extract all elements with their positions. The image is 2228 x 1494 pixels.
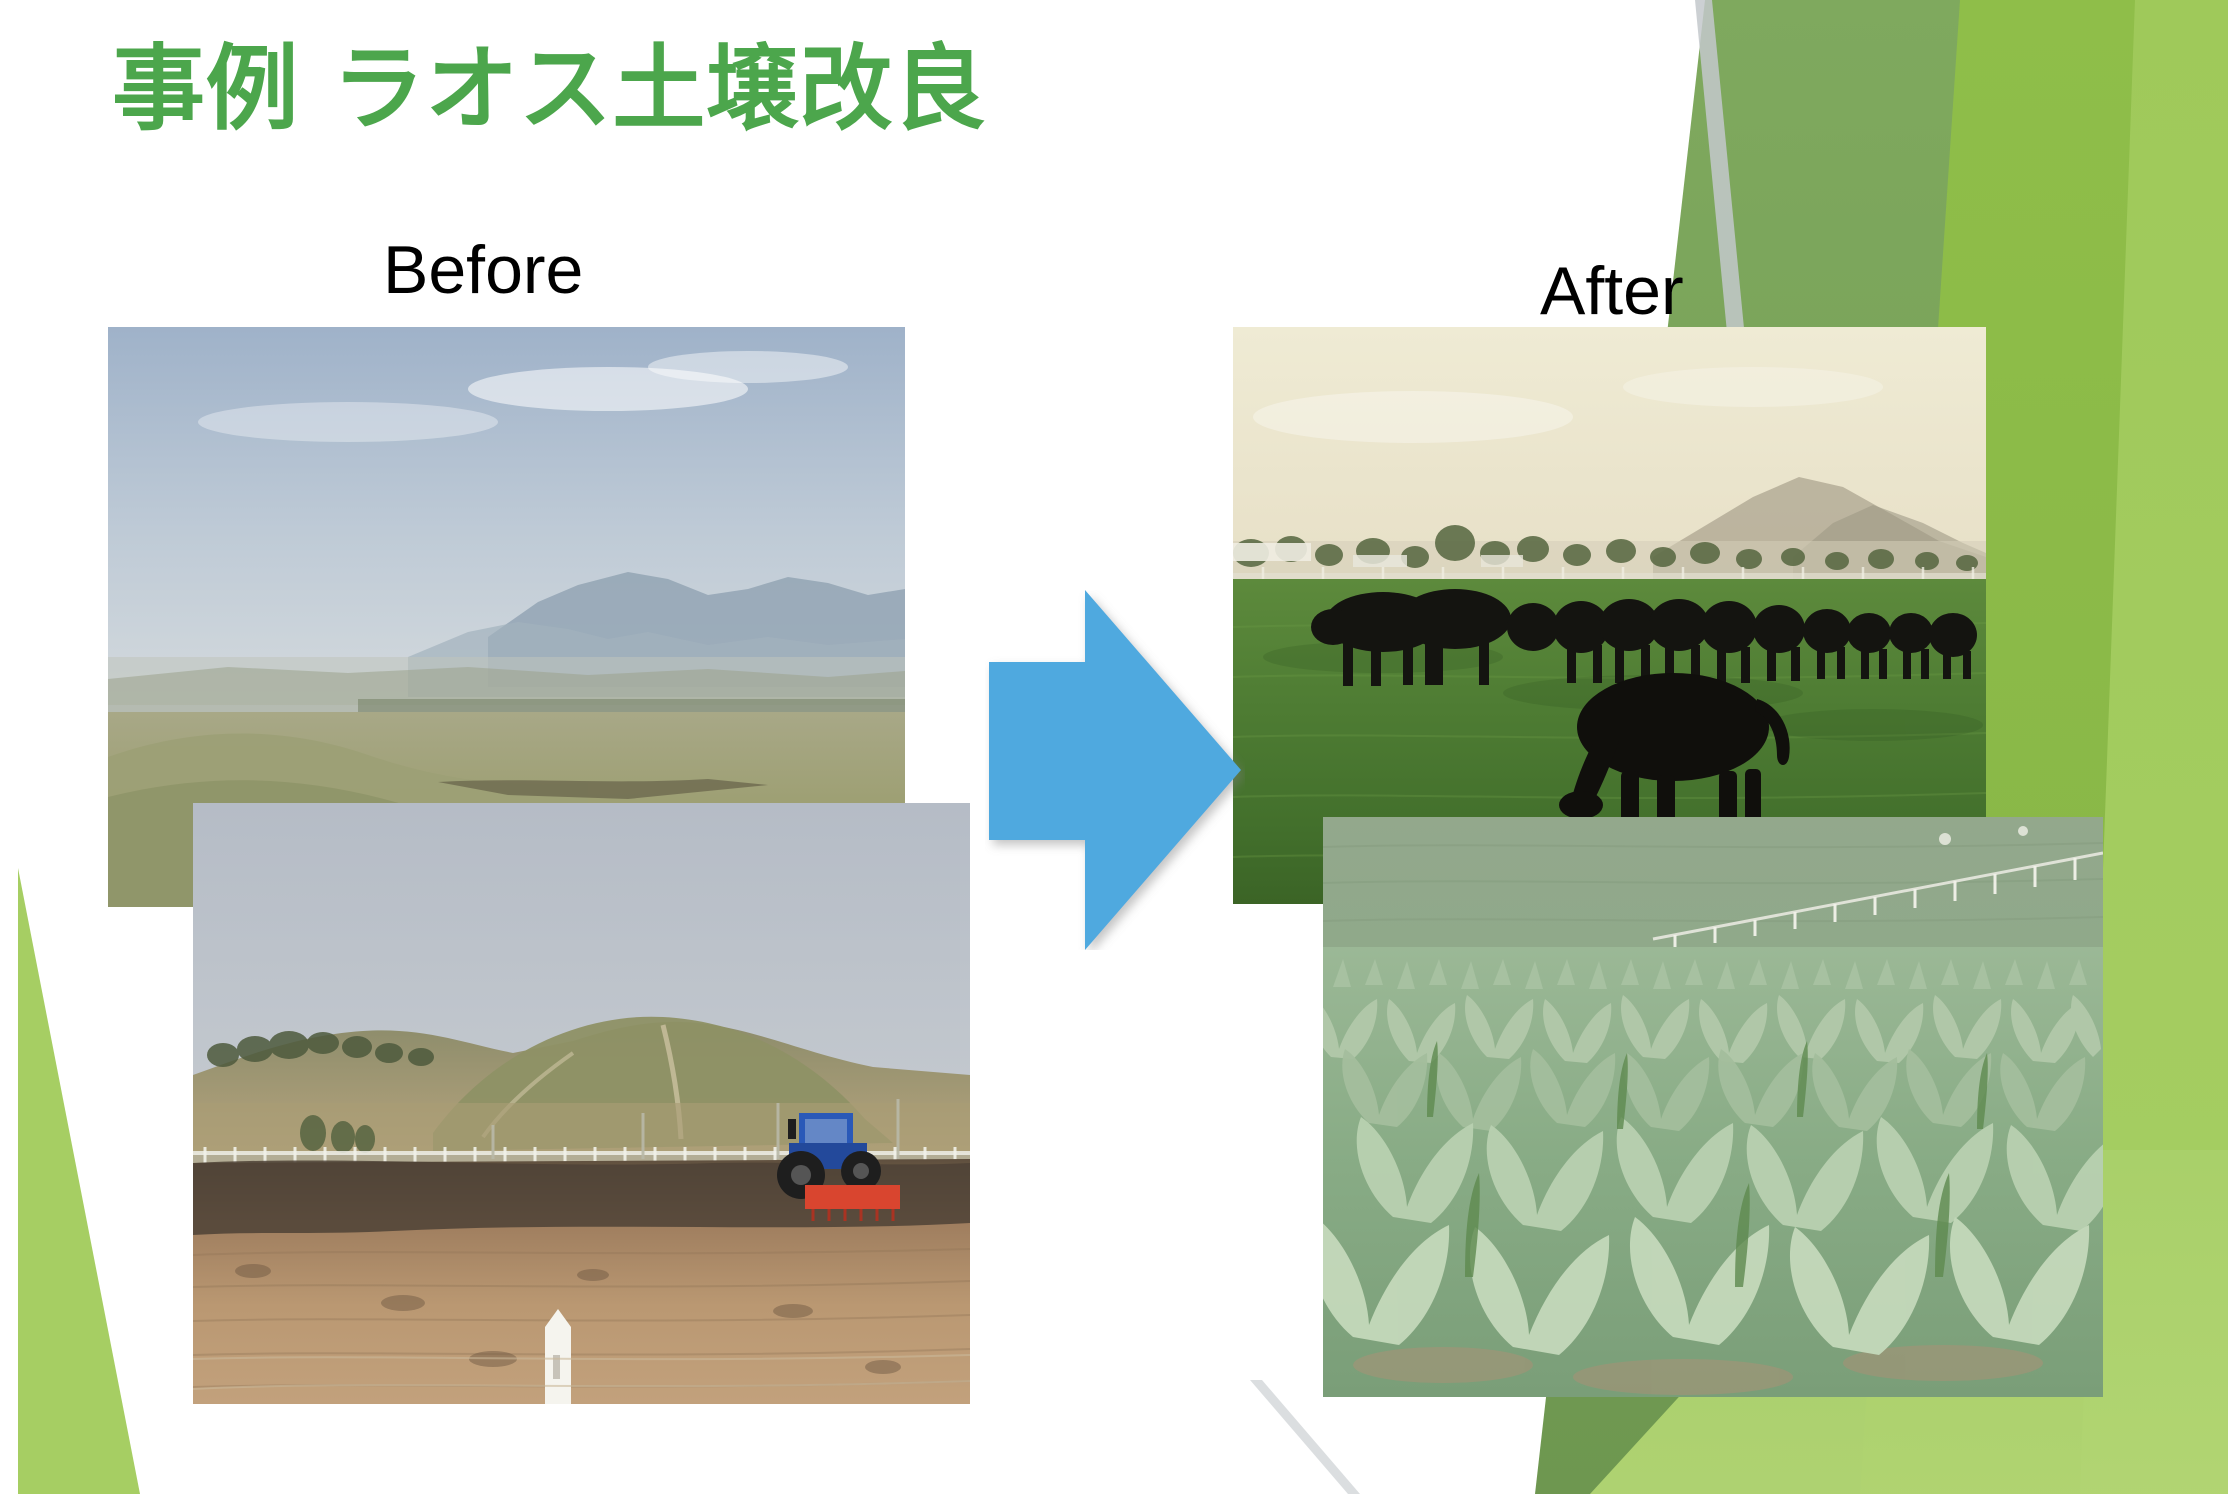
label-before: Before <box>383 236 583 304</box>
left-accent-wedge <box>18 868 140 1494</box>
photo-before-plowing <box>193 803 970 1404</box>
page-title: 事例 ラオス土壌改良 <box>112 36 986 143</box>
marker-post-shape <box>545 1309 571 1404</box>
slide-canvas: 事例 ラオス土壌改良 Before After <box>0 0 2228 1494</box>
photo-after-corn <box>1323 817 2103 1397</box>
label-after: After <box>1540 257 1684 325</box>
right-arrow-icon <box>985 590 1245 950</box>
